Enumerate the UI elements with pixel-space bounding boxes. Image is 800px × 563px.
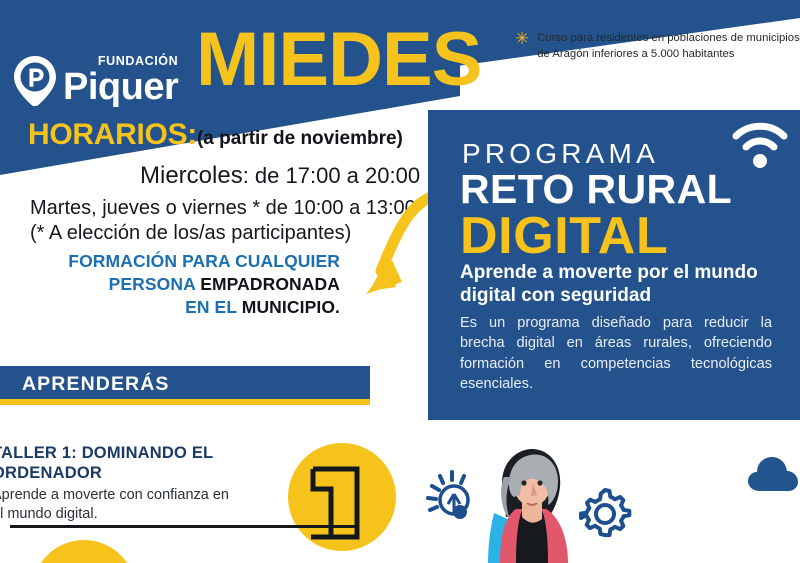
program-description: Es un programa diseñado para reducir la … <box>460 313 772 395</box>
schedule-line-1-day: Miercoles <box>140 162 243 189</box>
schedule-sublabel: (a partir de noviembre) <box>197 128 403 150</box>
workshop-1-divider <box>10 525 355 528</box>
woman-illustration <box>476 443 580 563</box>
eligibility-part-4: EN EL <box>185 297 237 317</box>
map-pin-p-icon <box>14 56 56 106</box>
schedule-line-1: Miercoles: de 17:00 a 20:00 <box>140 162 420 190</box>
wifi-icon <box>732 122 788 170</box>
cloud-icon <box>748 455 798 495</box>
eligibility-part-3: EMPADRONADA <box>200 274 340 294</box>
eligibility-note-text: Curso para residentes en poblaciones de … <box>537 30 800 62</box>
page-title: MIEDES <box>196 22 481 98</box>
schedule-line-3: (* A elección de los/as participantes) <box>30 222 351 245</box>
schedule-heading: HORARIOS: (a partir de noviembre) <box>28 118 403 152</box>
poster-canvas: FUNDACIÓN Piquer MIEDES ✳ Curso para res… <box>0 0 800 563</box>
logo-wordmark: FUNDACIÓN Piquer <box>63 57 178 106</box>
program-tagline: Aprende a moverte por el mundo digital c… <box>460 262 780 308</box>
learn-banner-underline <box>0 399 370 405</box>
workshop-number-circle-next <box>32 540 136 563</box>
eligibility-part-2: PERSONA <box>109 274 196 294</box>
eligibility-part-5: MUNICIPIO. <box>242 297 340 317</box>
brand-logo: FUNDACIÓN Piquer <box>14 56 178 106</box>
workshop-number-1-glyph <box>305 455 375 541</box>
asterisk-icon: ✳ <box>515 30 529 48</box>
learn-banner-label: APRENDERÁS <box>22 373 170 396</box>
eligibility-statement: FORMACIÓN PARA CUALQUIER PERSONA EMPADRO… <box>26 250 340 318</box>
program-title-line-2: DIGITAL <box>460 206 668 266</box>
workshop-1-title: TALLER 1: DOMINANDO EL ORDENADOR <box>0 444 252 484</box>
gear-icon <box>578 487 632 541</box>
lightbulb-icon <box>408 462 480 534</box>
workshop-1-description: Aprende a moverte con confianza en el mu… <box>0 486 242 523</box>
schedule-label: HORARIOS: <box>28 118 197 152</box>
program-panel: PROGRAMA RETO RURAL DIGITAL Aprende a mo… <box>428 110 800 420</box>
schedule-line-1-time: : de 17:00 a 20:00 <box>243 163 420 188</box>
logo-piquer-text: Piquer <box>63 68 178 106</box>
logo-fundacion-text: FUNDACIÓN <box>98 55 178 68</box>
eligibility-part-1: FORMACIÓN PARA CUALQUIER <box>68 251 340 271</box>
eligibility-note: ✳ Curso para residentes en poblaciones d… <box>515 30 800 62</box>
